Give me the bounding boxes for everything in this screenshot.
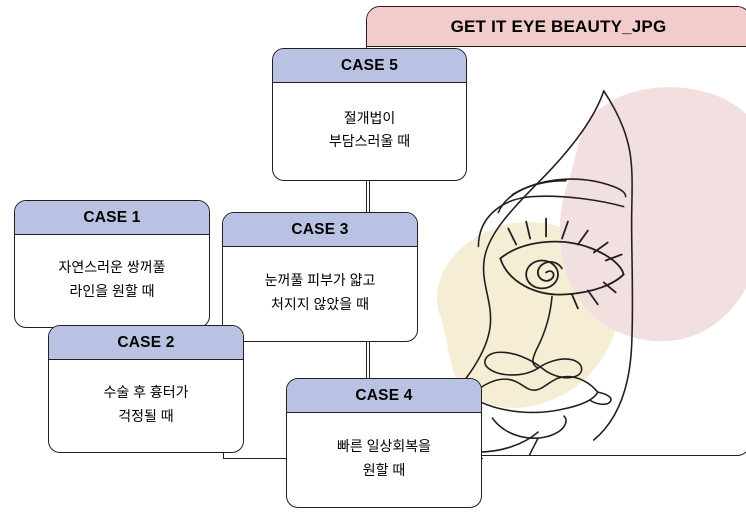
case-line-2: 원할 때 [363, 462, 406, 478]
panel-title: GET IT EYE BEAUTY_JPG [451, 17, 667, 37]
case-title-case-4: CASE 4 [355, 387, 412, 405]
case-line-1: 자연스러운 쌍꺼풀 [59, 259, 166, 275]
case-line-1: 빠른 일상회복을 [337, 438, 431, 454]
case-line-2: 처지지 않았을 때 [271, 296, 369, 312]
case-title-case-3: CASE 3 [291, 221, 348, 239]
case-header-case-3: CASE 3 [223, 213, 417, 247]
case-body-case-3: 눈꺼풀 피부가 얇고 처지지 않았을 때 [223, 247, 417, 341]
case-line-2: 라인을 원할 때 [69, 283, 154, 299]
case-body-case-2: 수술 후 흉터가 걱정될 때 [49, 360, 243, 452]
case-title-case-5: CASE 5 [341, 57, 398, 75]
pink-blob [560, 87, 746, 341]
case-card-case-3[interactable]: CASE 3 눈꺼풀 피부가 얇고 처지지 않았을 때 [222, 212, 418, 342]
case-header-case-4: CASE 4 [287, 379, 481, 413]
case-title-case-1: CASE 1 [83, 209, 140, 227]
panel-header: GET IT EYE BEAUTY_JPG [367, 7, 746, 47]
case-line-2: 걱정될 때 [118, 408, 173, 424]
case-card-case-1[interactable]: CASE 1 자연스러운 쌍꺼풀 라인을 원할 때 [14, 200, 210, 328]
case-line-1: 눈꺼풀 피부가 얇고 [265, 272, 376, 288]
connector-case3-to-case4 [369, 340, 370, 380]
connector-case5-to-case3 [369, 180, 370, 214]
case-line-1: 절개법이 [344, 110, 396, 126]
case-header-case-5: CASE 5 [273, 49, 466, 83]
case-line-1: 수술 후 흉터가 [103, 384, 188, 400]
case-header-case-1: CASE 1 [15, 201, 209, 235]
diagram-canvas: GET IT EYE BEAUTY_JPG [0, 0, 746, 527]
case-card-case-5[interactable]: CASE 5 절개법이 부담스러울 때 [272, 48, 467, 181]
case-body-case-5: 절개법이 부담스러울 때 [273, 83, 466, 180]
case-line-2: 부담스러울 때 [329, 133, 410, 149]
case-body-case-1: 자연스러운 쌍꺼풀 라인을 원할 때 [15, 235, 209, 327]
case-title-case-2: CASE 2 [117, 334, 174, 352]
case-card-case-4[interactable]: CASE 4 빠른 일상회복을 원할 때 [286, 378, 482, 508]
case-card-case-2[interactable]: CASE 2 수술 후 흉터가 걱정될 때 [48, 325, 244, 453]
case-header-case-2: CASE 2 [49, 326, 243, 360]
case-body-case-4: 빠른 일상회복을 원할 때 [287, 413, 481, 507]
